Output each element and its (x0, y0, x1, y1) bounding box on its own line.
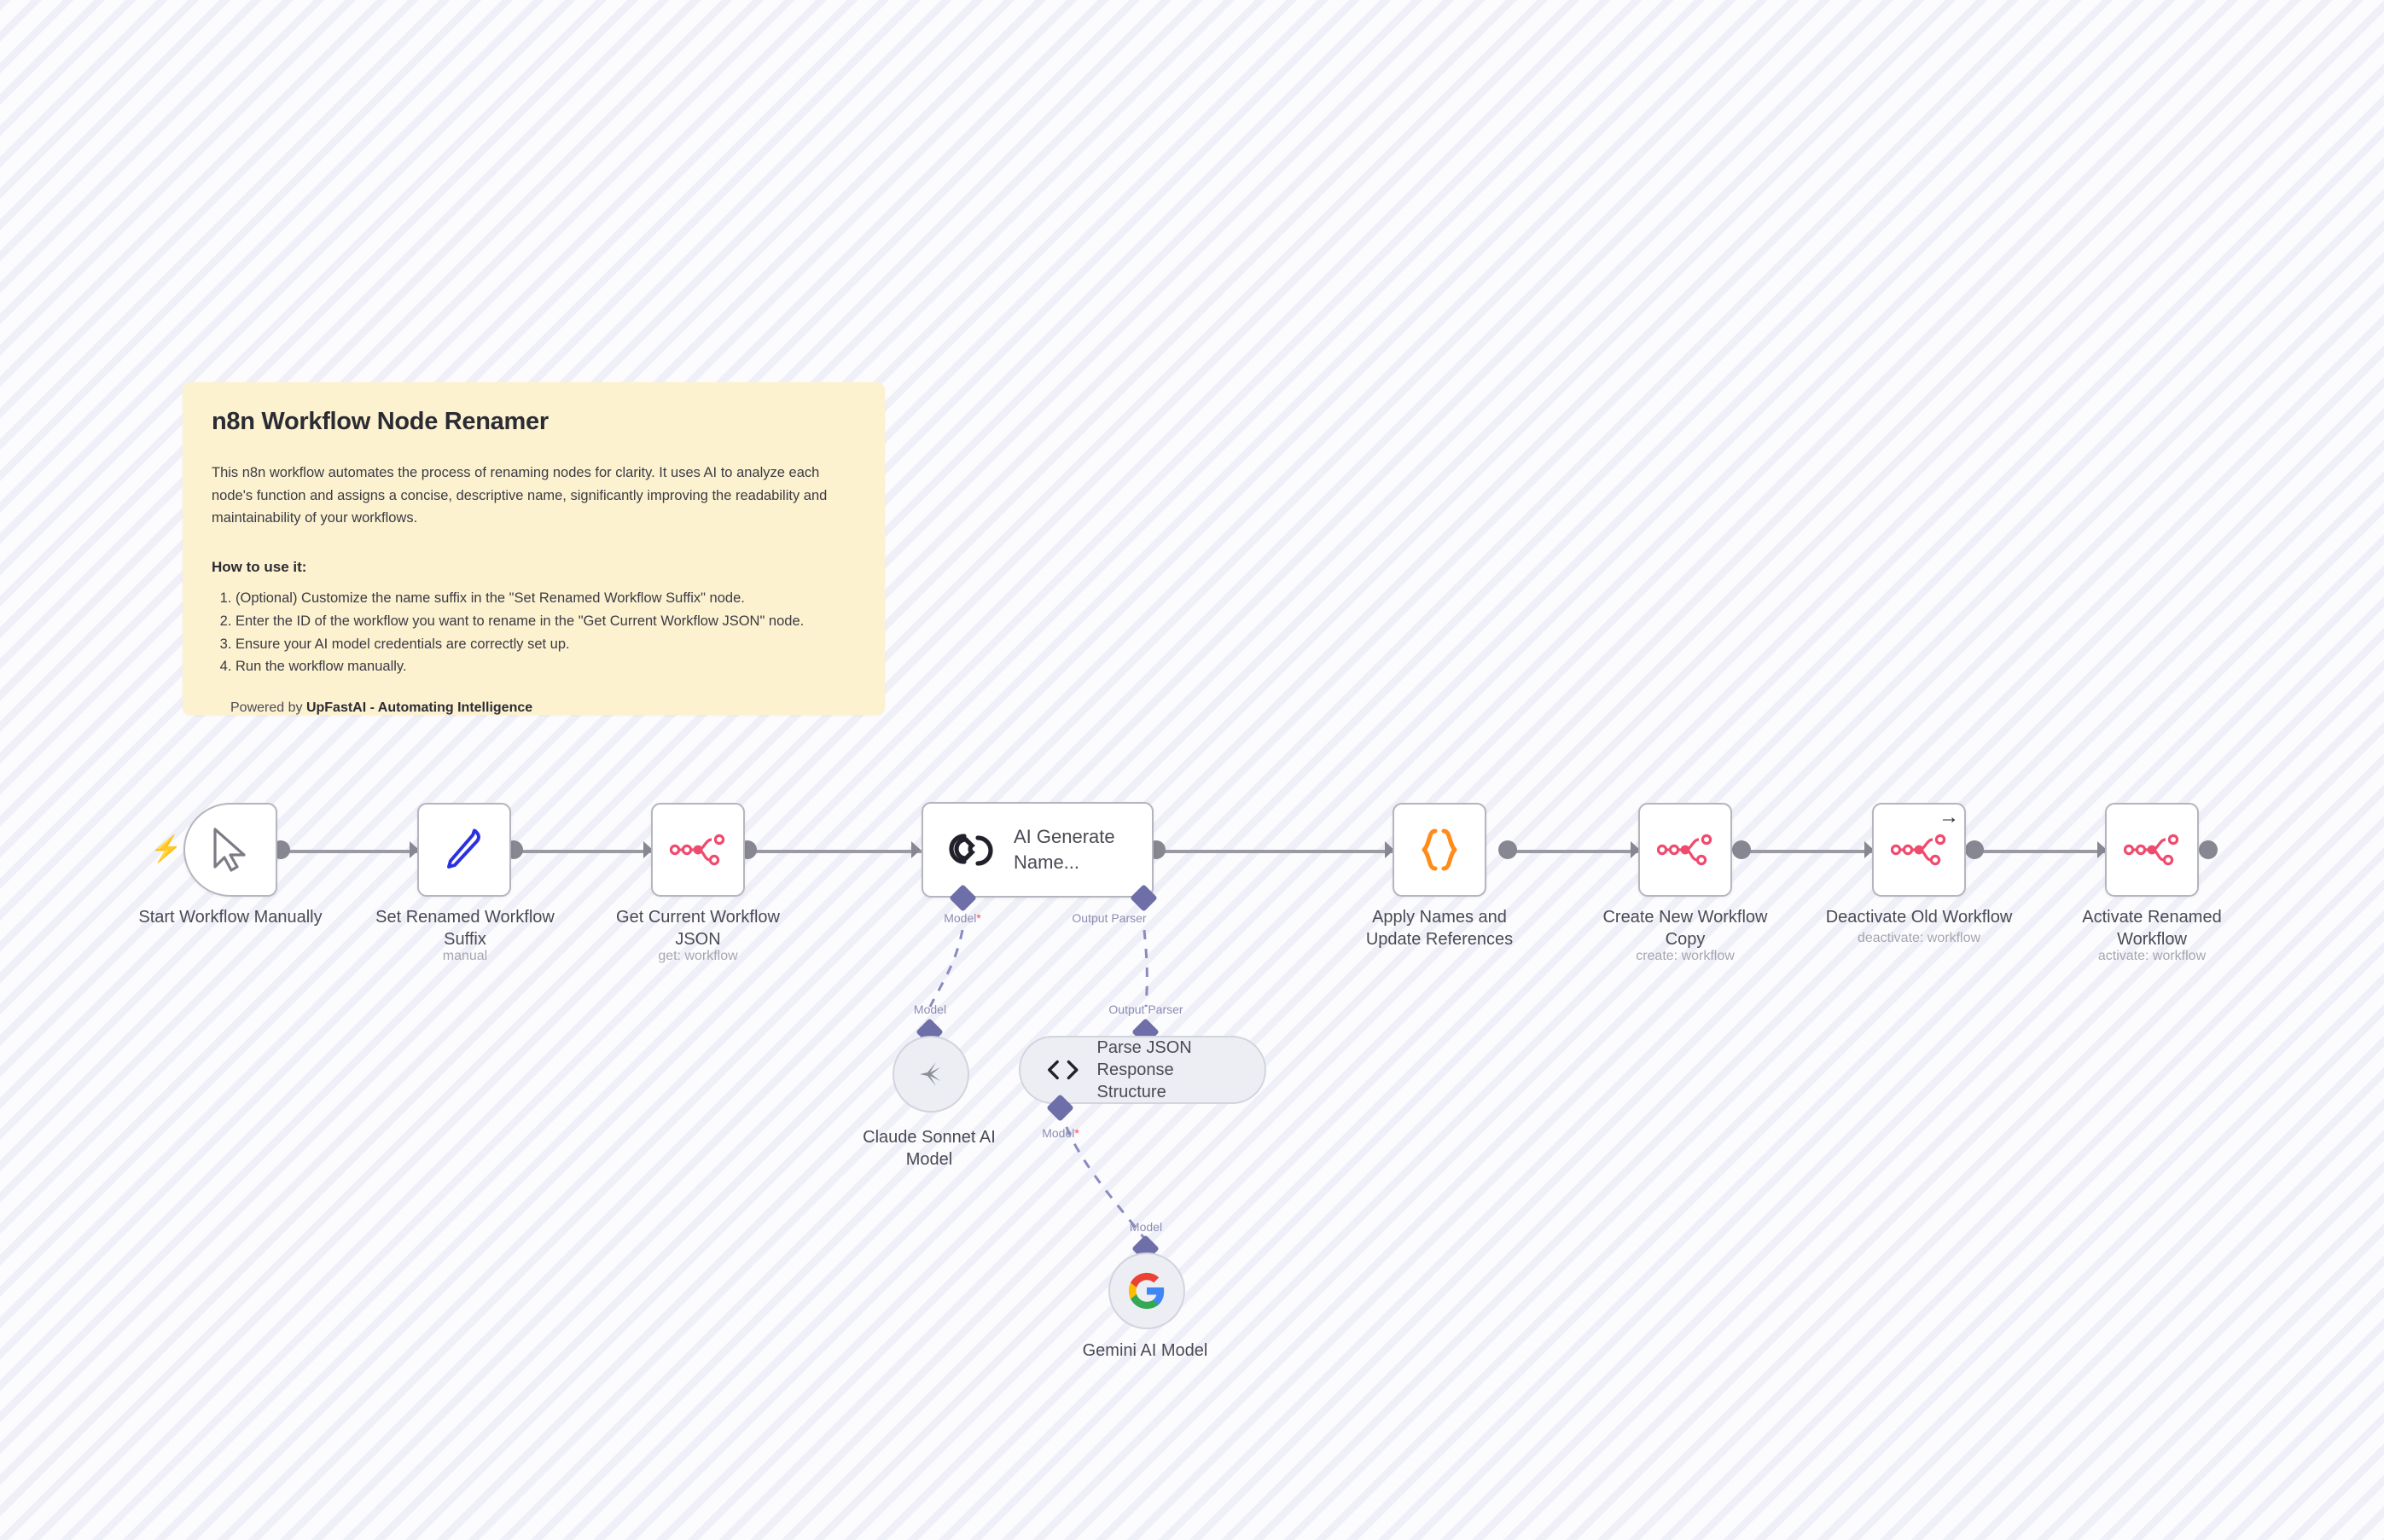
ai-subnode-connections (0, 0, 2384, 1540)
sticky-note-footer: Powered by UpFastAI - Automating Intelli… (212, 700, 856, 716)
edge-set-to-get (510, 850, 654, 853)
output-port-activate[interactable] (2199, 840, 2218, 859)
pencil-icon (441, 825, 487, 875)
list-item: Ensure your AI model credentials are cor… (235, 633, 856, 656)
node-create-new-workflow-copy[interactable] (1638, 803, 1732, 897)
list-item: Run the workflow manually. (235, 655, 856, 678)
edge-ai-to-apply (1156, 850, 1395, 853)
chain-link-icon (947, 828, 995, 872)
claude-icon (914, 1057, 948, 1091)
list-item: (Optional) Customize the name suffix in … (235, 587, 856, 610)
cursor-icon (208, 826, 253, 874)
node-sublabel-get-json: get: workflow (658, 949, 737, 964)
node-activate-renamed-workflow[interactable] (2105, 803, 2199, 897)
footer-brand: UpFastAI - Automating Intelligence (306, 700, 532, 715)
node-claude-sonnet-ai-model[interactable] (893, 1036, 969, 1113)
node-label-apply-names: Apply Names and Update References (1299, 906, 1580, 951)
edge-start-to-set (277, 850, 421, 853)
node-sublabel-deactivate-old: deactivate: workflow (1858, 931, 1980, 946)
output-port-create[interactable] (1732, 840, 1751, 859)
node-label-set-suffix: Set Renamed Workflow Suffix (337, 906, 593, 951)
node-start-workflow-manually[interactable] (183, 803, 277, 897)
sticky-note-steps: (Optional) Customize the name suffix in … (212, 587, 856, 678)
node-label-deactivate-old: Deactivate Old Workflow (1778, 906, 2060, 928)
output-port-apply[interactable] (1498, 840, 1517, 859)
n8n-icon (2124, 832, 2180, 868)
trigger-bolt-icon: ⚡ (150, 837, 182, 863)
node-apply-names-and-update-references[interactable] (1393, 803, 1486, 897)
n8n-icon (1891, 832, 1947, 868)
footer-prefix: Powered by (230, 700, 306, 715)
output-port-deactivate[interactable] (1965, 840, 1984, 859)
sticky-note-description: This n8n workflow automates the process … (212, 462, 856, 530)
node-gemini-ai-model[interactable] (1108, 1252, 1185, 1329)
code-angle-brackets-icon (1046, 1057, 1080, 1083)
node-label-activate-renamed: Activate Renamed Workflow (2020, 906, 2284, 951)
port-label-model-ai: Model* (944, 911, 981, 925)
port-label-model-parse: Model* (1042, 1126, 1079, 1140)
node-label-claude-model: Claude Sonnet AI Model (823, 1126, 1036, 1171)
n8n-icon (670, 832, 726, 868)
node-get-current-workflow-json[interactable] (651, 803, 745, 897)
node-set-renamed-workflow-suffix[interactable] (417, 803, 511, 897)
node-label-ai-generate: AI Generate Name... (1014, 824, 1115, 875)
port-label-model-gemini: Model (1130, 1220, 1162, 1234)
node-label-gemini-model: Gemini AI Model (1017, 1340, 1273, 1362)
google-g-icon (1127, 1271, 1166, 1310)
node-label-get-json: Get Current Workflow JSON (570, 906, 826, 951)
edge-apply-to-create (1504, 850, 1641, 853)
sticky-note-how-to-heading: How to use it: (212, 559, 856, 576)
edge-deactivate-to-activate (1971, 850, 2108, 853)
workflow-canvas[interactable]: n8n Workflow Node Renamer This n8n workf… (0, 0, 2384, 1540)
node-parse-json-response-structure[interactable]: Parse JSON Response Structure (1019, 1036, 1266, 1104)
node-sublabel-activate-renamed: activate: workflow (2098, 949, 2206, 964)
arrow-right-icon[interactable]: → (1939, 807, 1959, 828)
n8n-icon (1657, 832, 1713, 868)
sticky-note-title: n8n Workflow Node Renamer (212, 408, 856, 436)
edge-get-to-ai (744, 850, 922, 853)
edge-create-to-deactivate (1738, 850, 1875, 853)
port-label-model-claude: Model (914, 1002, 946, 1016)
node-label-parse-json: Parse JSON Response Structure (1097, 1037, 1239, 1103)
node-label-start: Start Workflow Manually (90, 906, 371, 928)
node-sublabel-set-suffix: manual (443, 949, 487, 964)
sticky-note[interactable]: n8n Workflow Node Renamer This n8n workf… (183, 382, 885, 715)
port-label-output-parser-parse: Output Parser (1108, 1002, 1183, 1016)
port-label-output-parser-ai: Output Parser (1072, 911, 1146, 925)
node-sublabel-create-copy: create: workflow (1636, 949, 1735, 964)
list-item: Enter the ID of the workflow you want to… (235, 610, 856, 633)
node-ai-generate-name[interactable]: AI Generate Name... (922, 802, 1154, 898)
code-braces-icon (1416, 825, 1463, 875)
